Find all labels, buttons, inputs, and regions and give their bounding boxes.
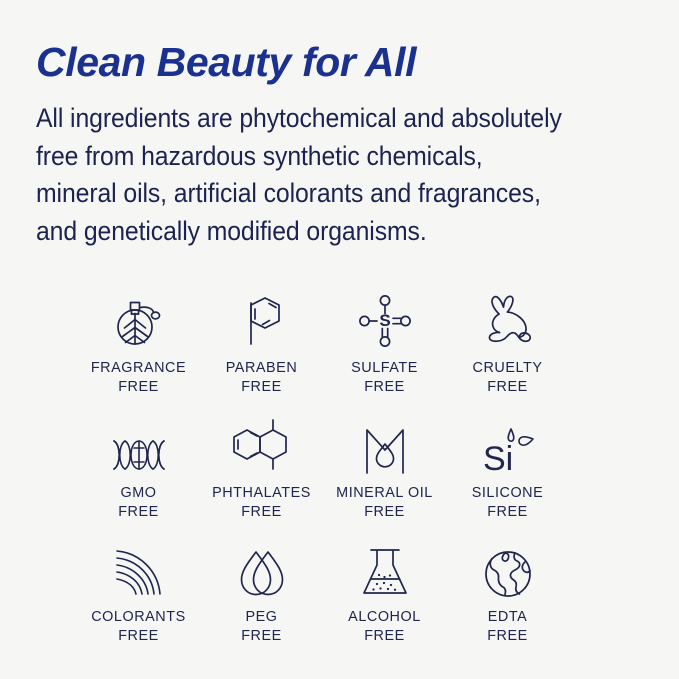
badge-label: MINERAL OIL FREE [336, 484, 433, 522]
badge-label-line1: MINERAL OIL [336, 485, 433, 501]
badge-label-line2: FREE [91, 627, 186, 646]
body-line-3: mineral oils, artificial colorants and f… [36, 178, 541, 208]
badge-label-line2: FREE [91, 378, 186, 397]
badge-label-line1: PEG [245, 609, 277, 625]
perfume-bottle-leaf-icon [110, 288, 168, 350]
dna-helix-icon [110, 413, 168, 475]
badge-label-line1: EDTA [488, 609, 528, 625]
benzene-ring-p-icon [235, 288, 289, 350]
badge-label: CRUELTY FREE [473, 359, 543, 397]
badge-edta-free: EDTA FREE [446, 537, 569, 646]
badge-peg-free: PEG FREE [200, 537, 323, 646]
badge-label-line1: SULFATE [351, 360, 418, 376]
badge-label: GMO FREE [118, 484, 159, 522]
badge-label: PHTHALATES FREE [212, 484, 311, 522]
silicone-si-droplets-icon: Si [479, 413, 537, 475]
body-copy: All ingredients are phytochemical and ab… [36, 100, 605, 250]
m-droplet-icon [361, 413, 409, 475]
badge-sulfate-free: S SULFATE FREE [323, 288, 446, 397]
globe-icon [483, 537, 533, 599]
badge-label-line1: CRUELTY [473, 360, 543, 376]
badge-label-line1: FRAGRANCE [91, 360, 186, 376]
body-line-4: and genetically modified organisms. [36, 216, 427, 246]
badge-label-line2: FREE [336, 503, 433, 522]
badge-paraben-free: PARABEN FREE [200, 288, 323, 397]
badge-row-3: COLORANTS FREE PEG FREE [0, 537, 679, 646]
badge-label-line2: FREE [212, 503, 311, 522]
badge-label-line1: COLORANTS [91, 609, 186, 625]
badge-label-line2: FREE [348, 627, 421, 646]
erlenmeyer-flask-icon [360, 537, 410, 599]
badge-label: PARABEN FREE [226, 359, 298, 397]
badge-label-line2: FREE [487, 627, 528, 646]
body-line-2: free from hazardous synthetic chemicals, [36, 141, 483, 171]
badge-label: ALCOHOL FREE [348, 608, 421, 646]
badge-label-line2: FREE [241, 627, 282, 646]
badge-label-line1: GMO [120, 485, 156, 501]
badge-alcohol-free: ALCOHOL FREE [323, 537, 446, 646]
badge-label-line1: ALCOHOL [348, 609, 421, 625]
badge-gmo-free: GMO FREE [77, 413, 200, 522]
badge-label-line1: SILICONE [472, 485, 544, 501]
badge-label: PEG FREE [241, 608, 282, 646]
badge-label-line2: FREE [473, 378, 543, 397]
badge-label-line2: FREE [351, 378, 418, 397]
badge-label-line1: PHTHALATES [212, 485, 311, 501]
badge-silicone-free: Si SILICONE FREE [446, 413, 569, 522]
clean-beauty-panel: Clean Beauty for All All ingredients are… [0, 0, 679, 679]
badge-label: SULFATE FREE [351, 359, 418, 397]
badge-label-line2: FREE [226, 378, 298, 397]
badge-label: SILICONE FREE [472, 484, 544, 522]
badge-fragrance-free: FRAGRANCE FREE [77, 288, 200, 397]
badge-mineral-oil-free: MINERAL OIL FREE [323, 413, 446, 522]
rainbow-arcs-icon [112, 537, 166, 599]
badge-label: COLORANTS FREE [91, 608, 186, 646]
badge-label-line1: PARABEN [226, 360, 298, 376]
rabbit-icon [477, 288, 539, 350]
body-line-1: All ingredients are phytochemical and ab… [36, 103, 562, 133]
badge-cruelty-free: CRUELTY FREE [446, 288, 569, 397]
badge-label-line2: FREE [472, 503, 544, 522]
naphthalene-molecule-icon [231, 413, 293, 475]
badge-label: FRAGRANCE FREE [91, 359, 186, 397]
sulfate-molecule-icon: S [356, 288, 414, 350]
free-from-badge-grid: FRAGRANCE FREE PARABEN FR [0, 288, 679, 646]
badge-phthalates-free: PHTHALATES FREE [200, 413, 323, 522]
badge-colorants-free: COLORANTS FREE [77, 537, 200, 646]
badge-label-line2: FREE [118, 503, 159, 522]
svg-text:Si: Si [483, 440, 513, 478]
badge-row-1: FRAGRANCE FREE PARABEN FR [0, 288, 679, 397]
twin-droplets-icon [236, 537, 288, 599]
header: Clean Beauty for All All ingredients are… [0, 0, 679, 250]
page-title: Clean Beauty for All [36, 38, 645, 86]
badge-row-2: GMO FREE [0, 413, 679, 522]
badge-label: EDTA FREE [487, 608, 528, 646]
